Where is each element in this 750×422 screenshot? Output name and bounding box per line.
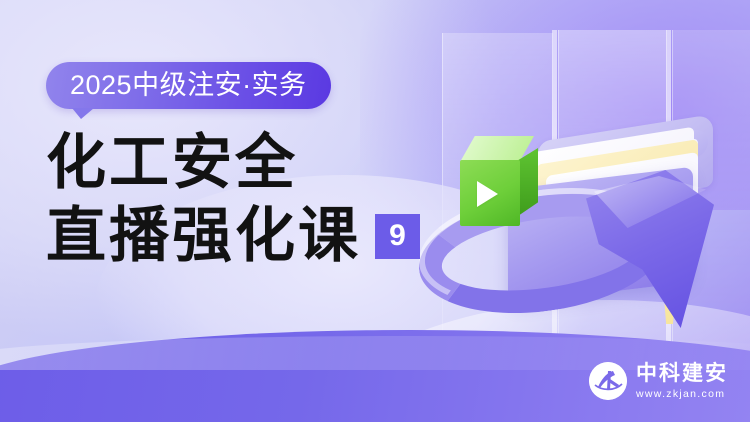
course-title-line-2: 直播强化课 9: [46, 206, 476, 266]
course-title-line-1-text: 化工安全: [46, 129, 298, 196]
brand-name: 中科建安: [636, 363, 728, 384]
course-title-line-2-text: 直播强化课: [46, 206, 361, 266]
play-triangle-icon: [477, 181, 498, 207]
course-category-badge: 2025中级注安·实务: [46, 62, 331, 109]
brand-logo-text: 中科建安 www.zkjan.com: [636, 363, 728, 400]
course-category-badge-label: 2025中级注安·实务: [70, 71, 307, 99]
speech-bubble-tail-icon: [72, 108, 94, 119]
brand-logo[interactable]: 中科建安 www.zkjan.com: [589, 362, 728, 400]
course-banner: 2025中级注安·实务 化工安全 直播强化课 9 中科建安 www.zkjan.…: [0, 0, 750, 422]
episode-number-badge: 9: [375, 214, 420, 259]
headline-group: 2025中级注安·实务 化工安全 直播强化课 9: [46, 62, 476, 266]
course-title-line-1: 化工安全: [46, 133, 476, 193]
brand-url: www.zkjan.com: [636, 389, 728, 400]
zkjan-monogram-icon: [589, 362, 627, 400]
